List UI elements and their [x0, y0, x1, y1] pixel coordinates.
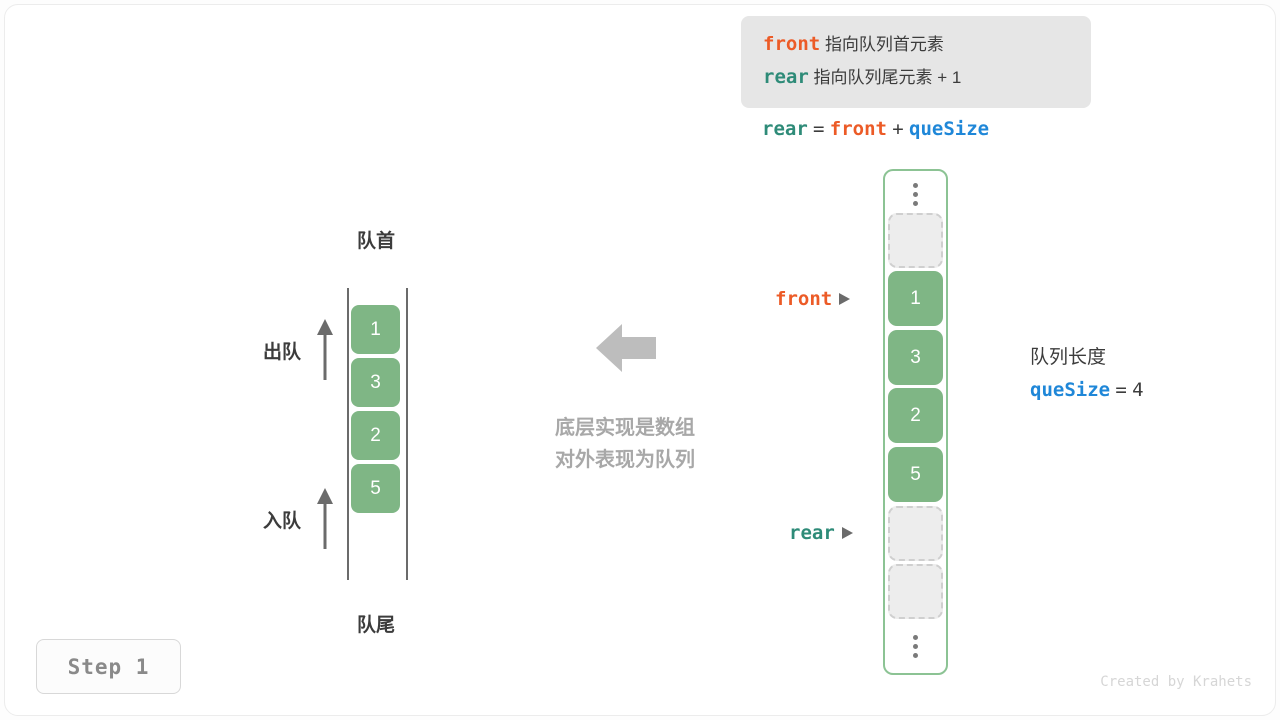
- front-pointer-label: front: [775, 288, 850, 310]
- queue-size-block: 队列长度 queSize = 4: [1030, 343, 1144, 408]
- array-ellipsis-bottom: [888, 627, 943, 665]
- queue-head-label: 队首: [346, 226, 406, 253]
- array-slot-empty: [888, 506, 943, 561]
- array-ellipsis-top: [888, 175, 943, 213]
- quesize-identifier: queSize: [1030, 379, 1110, 401]
- queue-cell: 3: [351, 358, 400, 407]
- step-badge: Step 1: [36, 639, 181, 694]
- array-slot-filled: 1: [888, 271, 943, 326]
- queue-rail-right: [406, 288, 408, 580]
- formula-lhs: rear: [762, 118, 808, 140]
- queue-cell: 5: [351, 464, 400, 513]
- rear-pointer-label: rear: [789, 522, 853, 544]
- credit-text: Created by Krahets: [1100, 674, 1252, 690]
- queue-tail-label: 队尾: [346, 610, 406, 637]
- left-arrow-icon: [596, 322, 656, 374]
- legend-term-front: front: [763, 33, 820, 55]
- pointer-legend-box: front 指向队列首元素 rear 指向队列尾元素 + 1: [741, 16, 1091, 108]
- legend-term-rear: rear: [763, 66, 809, 88]
- legend-line-front: front 指向队列首元素: [741, 28, 1091, 61]
- formula-rhs-front: front: [830, 118, 887, 140]
- legend-desc-front: 指向队列首元素: [825, 35, 944, 54]
- legend-line-rear: rear 指向队列尾元素 + 1: [741, 61, 1091, 94]
- formula-rear-equals: rear = front + queSize: [762, 118, 989, 141]
- enqueue-label: 入队: [252, 506, 312, 533]
- formula-rhs-quesize: queSize: [909, 118, 989, 140]
- array-slot-filled: 3: [888, 330, 943, 385]
- rear-pointer-text: rear: [789, 522, 835, 544]
- queue-size-title: 队列长度: [1030, 343, 1144, 373]
- quesize-value: 4: [1132, 379, 1143, 401]
- front-pointer-text: front: [775, 288, 832, 310]
- queue-cell: 1: [351, 305, 400, 354]
- front-pointer-arrowhead-icon: [839, 293, 850, 305]
- formula-plus: +: [892, 118, 903, 140]
- rear-pointer-arrowhead-icon: [842, 527, 853, 539]
- center-caption-line-1: 底层实现是数组: [505, 412, 745, 444]
- array-slot-filled: 2: [888, 388, 943, 443]
- array-slot-empty: [888, 213, 943, 268]
- enqueue-up-arrow-icon: [316, 487, 334, 549]
- formula-equals: =: [813, 118, 824, 140]
- queue-rail-left: [347, 288, 349, 580]
- quesize-equals: =: [1115, 379, 1126, 401]
- dequeue-up-arrow-icon: [316, 318, 334, 380]
- center-caption: 底层实现是数组 对外表现为队列: [505, 412, 745, 476]
- queue-cell: 2: [351, 411, 400, 460]
- dequeue-label: 出队: [252, 337, 312, 364]
- queue-size-expression: queSize = 4: [1030, 373, 1144, 408]
- array-slot-filled: 5: [888, 447, 943, 502]
- center-caption-line-2: 对外表现为队列: [505, 444, 745, 476]
- diagram-canvas: front 指向队列首元素 rear 指向队列尾元素 + 1 rear = fr…: [0, 0, 1280, 720]
- legend-desc-rear: 指向队列尾元素 + 1: [814, 68, 962, 87]
- array-slot-empty: [888, 564, 943, 619]
